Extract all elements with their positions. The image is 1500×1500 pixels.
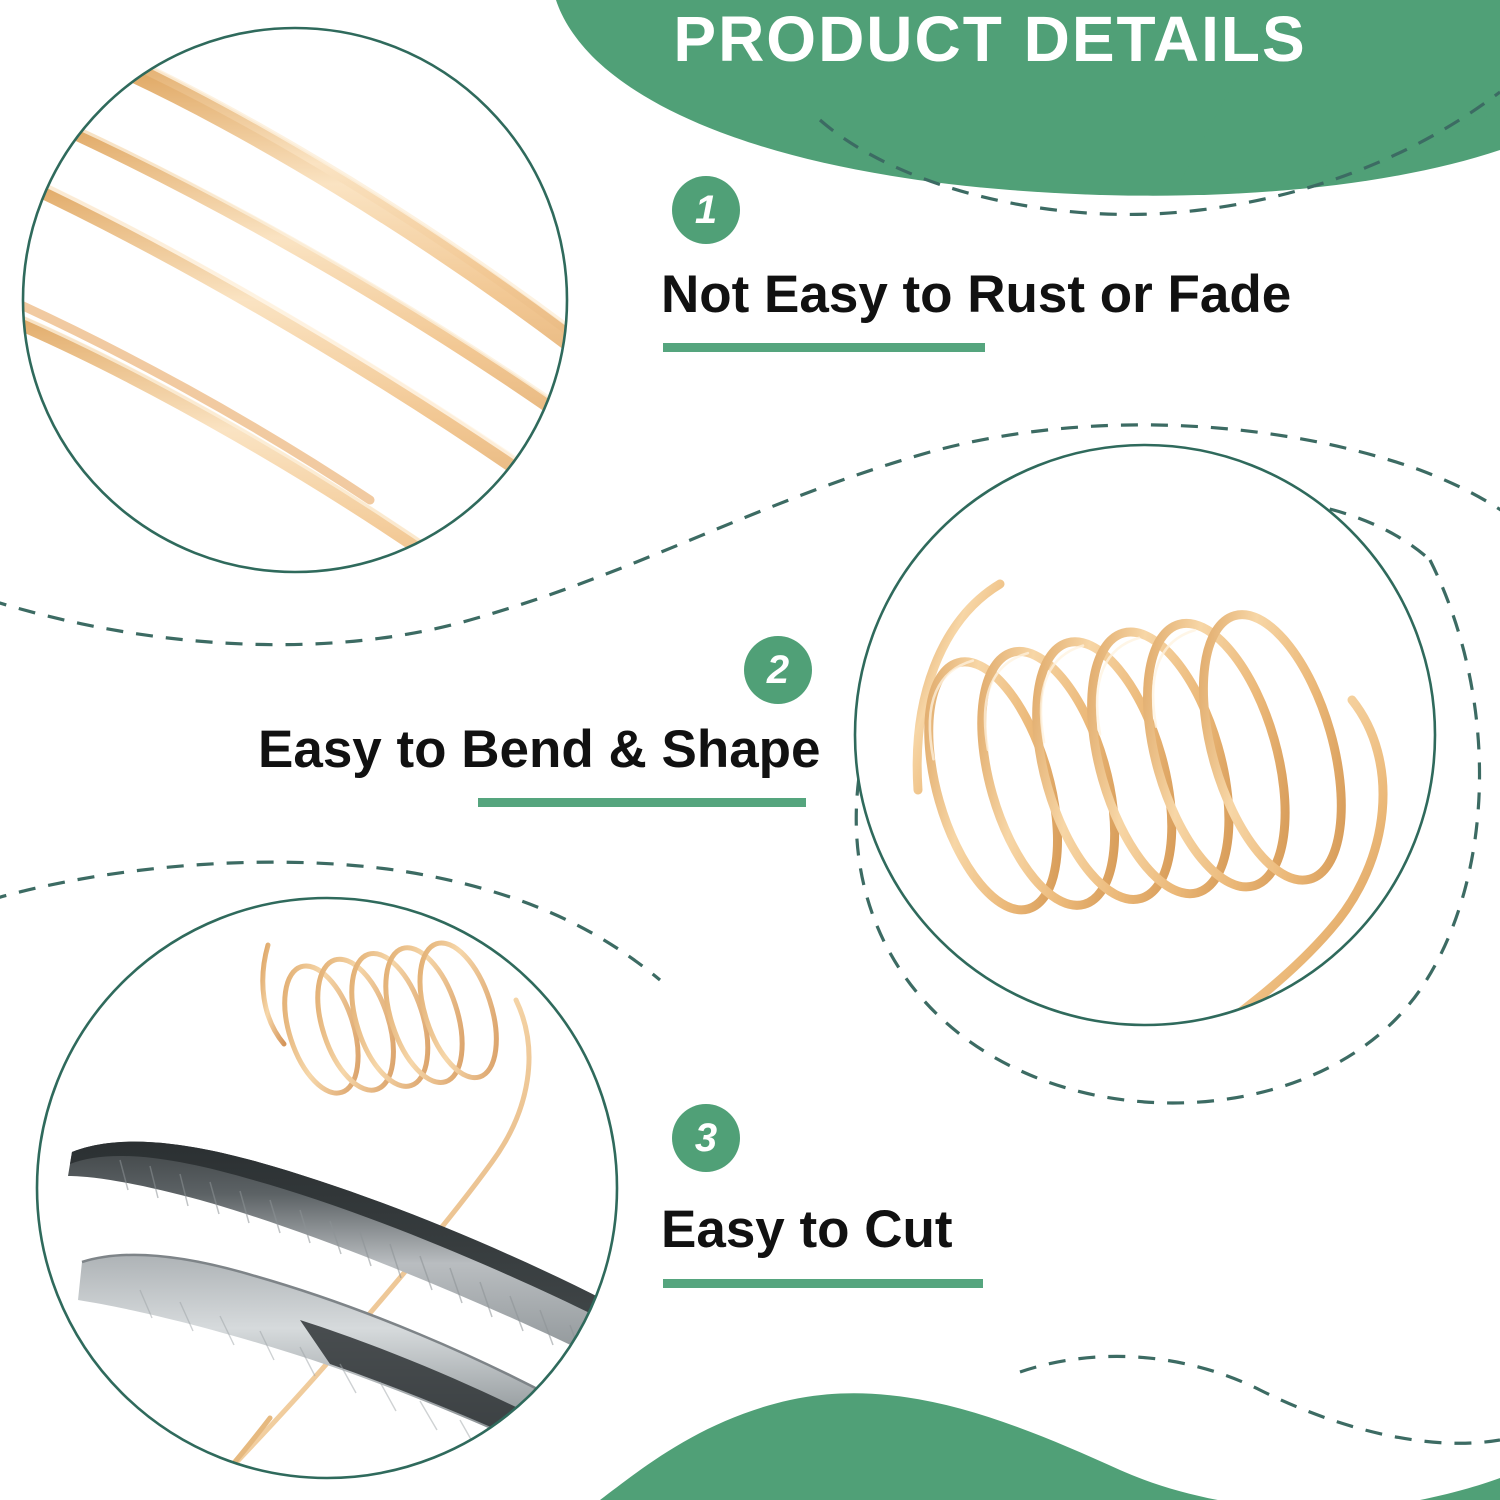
feature-title-3: Easy to Cut bbox=[661, 1203, 953, 1256]
feature-underline-1 bbox=[663, 343, 985, 352]
feature-badge-1: 1 bbox=[672, 176, 740, 244]
feature-underline-3 bbox=[663, 1279, 983, 1288]
feature-title-1: Not Easy to Rust or Fade bbox=[661, 268, 1291, 321]
product-details-infographic: PRODUCT DETAILS 1 Not Easy to Rust or Fa… bbox=[0, 0, 1500, 1500]
feature-badge-3: 3 bbox=[672, 1104, 740, 1172]
feature-badge-2: 2 bbox=[744, 636, 812, 704]
feature-title-2: Easy to Bend & Shape bbox=[258, 723, 821, 776]
feature-underline-2 bbox=[478, 798, 806, 807]
page-title: PRODUCT DETAILS bbox=[640, 6, 1340, 73]
